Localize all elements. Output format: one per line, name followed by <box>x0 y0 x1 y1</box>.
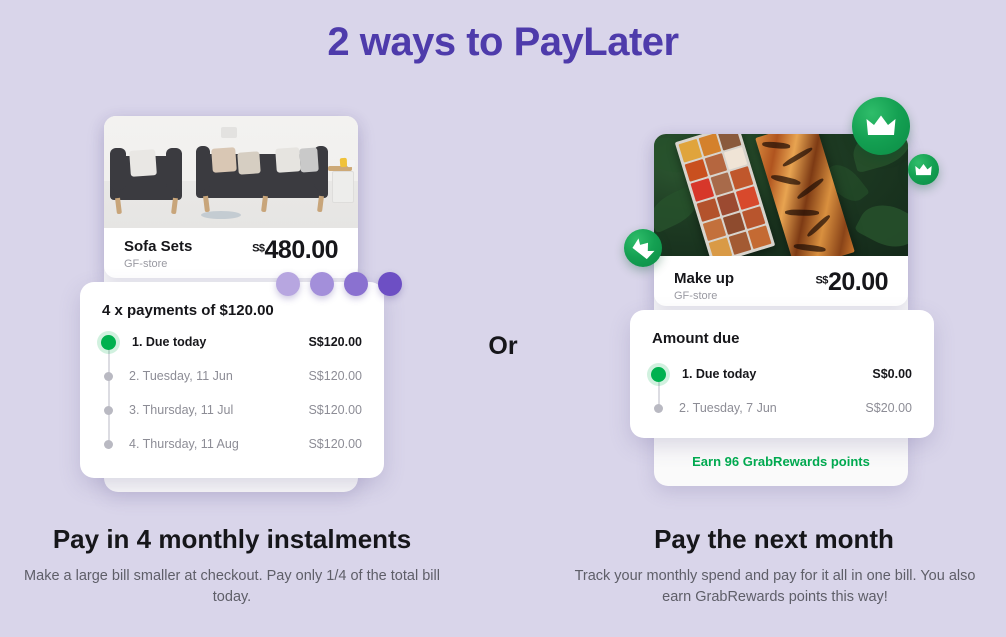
left-schedule-heading: 4 x payments of $120.00 <box>102 302 362 319</box>
row-label: 2. Tuesday, 11 Jun <box>129 369 233 383</box>
sofa-photo <box>104 116 358 228</box>
crown-icon <box>852 97 910 155</box>
right-product-info: Make up GF-store S$20.00 <box>654 256 908 306</box>
table-row: 1. Due today S$0.00 <box>652 357 912 391</box>
table-row: 2. Tuesday, 11 Jun S$120.00 <box>102 359 362 393</box>
row-amount: S$20.00 <box>865 401 912 415</box>
left-currency: S$ <box>252 243 264 255</box>
instalment-dot-4 <box>378 272 402 296</box>
left-caption-body: Make a large bill smaller at checkout. P… <box>22 566 442 608</box>
row-label: 2. Tuesday, 7 Jun <box>679 401 777 415</box>
right-schedule-heading: Amount due <box>652 330 912 347</box>
right-schedule-rows: 1. Due today S$0.00 2. Tuesday, 7 Jun S$… <box>652 357 912 425</box>
right-caption-body: Track your monthly spend and pay for it … <box>560 566 990 608</box>
row-amount: S$0.00 <box>872 367 912 381</box>
row-amount: S$120.00 <box>308 437 362 451</box>
right-caption-heading: Pay the next month <box>542 524 1006 555</box>
instalment-dots <box>276 272 402 296</box>
row-amount: S$120.00 <box>308 369 362 383</box>
left-product-price: S$480.00 <box>252 236 338 265</box>
right-product-price: S$20.00 <box>815 268 888 297</box>
left-product-info: Sofa Sets GF-store S$480.00 <box>104 228 358 278</box>
left-product-card[interactable]: Sofa Sets GF-store S$480.00 <box>104 116 358 278</box>
status-dot <box>104 440 113 449</box>
row-label: 1. Due today <box>682 367 756 381</box>
paylater-promo-page: 2 ways to PayLater <box>0 0 1006 637</box>
page-title: 2 ways to PayLater <box>0 20 1006 65</box>
right-amount: 20.00 <box>828 268 888 296</box>
status-dot <box>654 404 663 413</box>
left-schedule-card: 4 x payments of $120.00 1. Due today S$1… <box>80 282 384 478</box>
right-product-card[interactable]: Make up GF-store S$20.00 <box>654 134 908 306</box>
status-dot <box>104 372 113 381</box>
left-amount: 480.00 <box>265 236 338 264</box>
left-caption-heading: Pay in 4 monthly instalments <box>0 524 464 555</box>
table-row: 4. Thursday, 11 Aug S$120.00 <box>102 427 362 461</box>
status-dot <box>104 406 113 415</box>
instalment-dot-3 <box>344 272 368 296</box>
row-amount: S$120.00 <box>308 403 362 417</box>
row-label: 4. Thursday, 11 Aug <box>129 437 239 451</box>
status-dot-active <box>651 367 666 382</box>
sofa-illustration <box>104 116 358 228</box>
table-row: 2. Tuesday, 7 Jun S$20.00 <box>652 391 912 425</box>
status-dot-active <box>101 335 116 350</box>
instalment-dot-1 <box>276 272 300 296</box>
grabrewards-points-text: Earn 96 GrabRewards points <box>654 454 908 469</box>
right-schedule-card: Amount due 1. Due today S$0.00 2. Tuesda… <box>630 310 934 438</box>
table-row: 3. Thursday, 11 Jul S$120.00 <box>102 393 362 427</box>
crown-icon <box>908 154 939 185</box>
row-label: 3. Thursday, 11 Jul <box>129 403 233 417</box>
instalment-dot-2 <box>310 272 334 296</box>
crown-icon <box>624 229 662 267</box>
right-currency: S$ <box>815 275 827 287</box>
